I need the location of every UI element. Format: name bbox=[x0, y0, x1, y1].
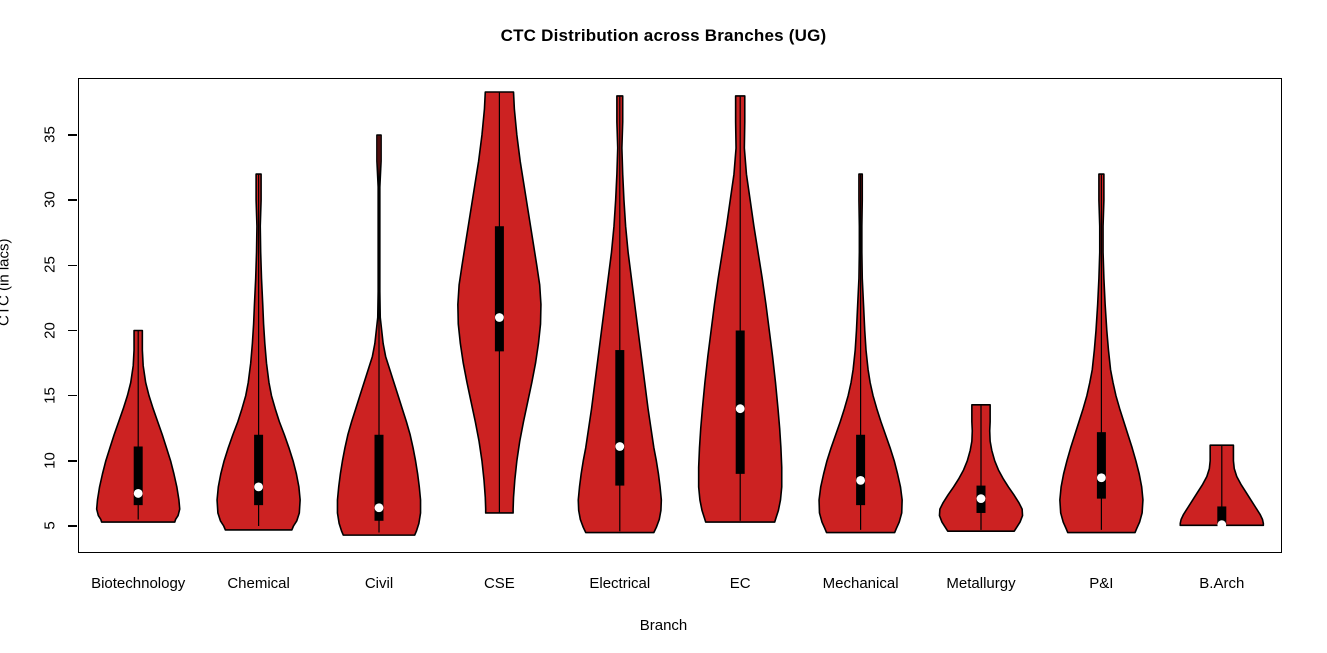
iqr-box bbox=[1097, 432, 1106, 498]
iqr-box bbox=[856, 435, 865, 505]
median-marker bbox=[1217, 520, 1226, 529]
median-marker bbox=[495, 313, 504, 322]
violin-electrical bbox=[578, 96, 661, 533]
median-marker bbox=[134, 489, 143, 498]
iqr-box bbox=[736, 331, 745, 474]
median-marker bbox=[856, 476, 865, 485]
violin-cse bbox=[458, 92, 541, 513]
violin-b-arch bbox=[1180, 445, 1263, 529]
violin-biotechnology bbox=[97, 331, 180, 523]
median-marker bbox=[1097, 473, 1106, 482]
median-marker bbox=[615, 442, 624, 451]
violin-mechanical bbox=[819, 174, 902, 532]
violin-metallurgy bbox=[939, 405, 1022, 531]
median-marker bbox=[375, 503, 384, 512]
violin-p-i bbox=[1060, 174, 1143, 532]
violin-ec bbox=[699, 96, 782, 522]
iqr-box bbox=[495, 226, 504, 351]
iqr-box bbox=[615, 350, 624, 486]
median-marker bbox=[254, 483, 263, 492]
violin-chart: CTC Distribution across Branches (UG) CT… bbox=[0, 0, 1327, 653]
iqr-box bbox=[254, 435, 263, 505]
violin-series-layer bbox=[0, 0, 1327, 653]
median-marker bbox=[977, 494, 986, 503]
violin-chemical bbox=[217, 174, 300, 530]
median-marker bbox=[736, 404, 745, 413]
violin-civil bbox=[337, 135, 420, 535]
